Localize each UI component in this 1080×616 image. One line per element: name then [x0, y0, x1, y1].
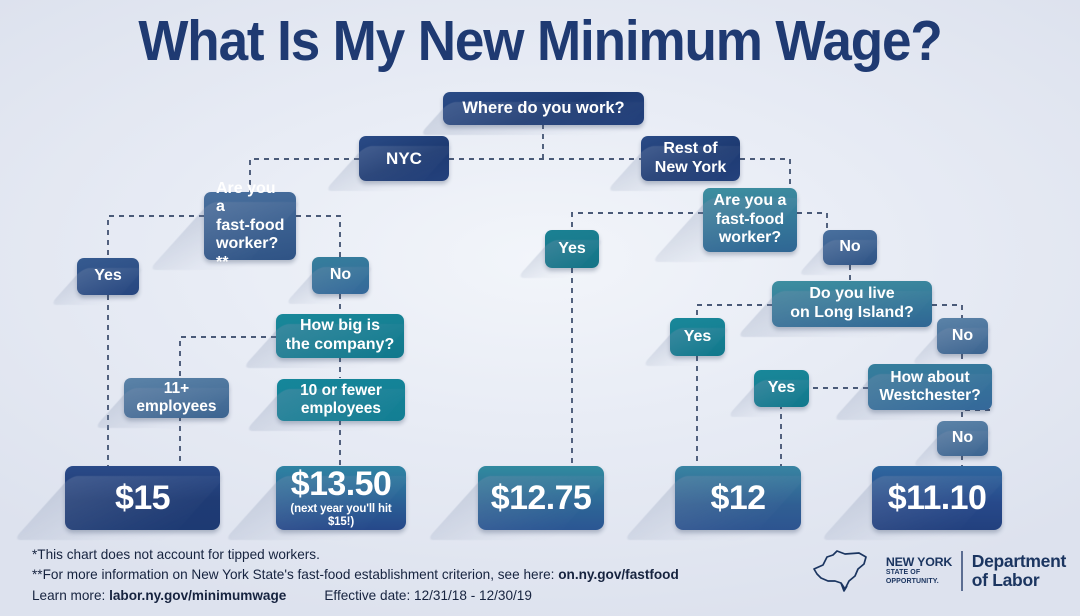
node-label: No [952, 327, 973, 346]
result-15[interactable]: $15 [65, 466, 220, 530]
node-label: Yes [558, 240, 586, 259]
flowchart: Where do you work? NYC Rest of New York … [0, 0, 1080, 616]
node-company-size-question[interactable]: How big is the company? [276, 314, 404, 358]
result-amount: $12.75 [491, 481, 591, 516]
minimumwage-link[interactable]: labor.ny.gov/minimumwage [109, 588, 286, 603]
footer-note-fastfood-criterion: **For more information on New York State… [32, 565, 679, 586]
logo-department: Department [972, 552, 1066, 571]
node-label: No [952, 429, 973, 448]
node-long-island-question[interactable]: Do you live on Long Island? [772, 281, 932, 327]
learn-more-text: Learn more: [32, 588, 109, 603]
node-westchester-no[interactable]: No [937, 421, 988, 456]
result-amount: $11.10 [888, 481, 987, 516]
node-label: Do you live on Long Island? [790, 285, 914, 322]
node-label: How about Westchester? [879, 369, 980, 405]
node-label: Rest of New York [655, 140, 726, 177]
logo-new-york: NEW YORK [886, 556, 952, 569]
node-rony-fast-food-yes[interactable]: Yes [545, 230, 599, 268]
result-subtext: (next year you'll hit $15!) [284, 503, 398, 530]
node-label: 11+ employees [136, 380, 216, 416]
node-label: How big is the company? [286, 317, 394, 354]
department-of-labor-wordmark: Department of Labor [972, 552, 1066, 590]
node-label: 10 or fewer employees [300, 382, 382, 418]
node-where-do-you-work[interactable]: Where do you work? [443, 92, 644, 125]
node-nyc[interactable]: NYC [359, 136, 449, 181]
result-13-50[interactable]: $13.50 (next year you'll hit $15!) [276, 466, 406, 530]
node-rony-fast-food-question[interactable]: Are you a fast-food worker? [703, 188, 797, 252]
new-york-state-outline-icon [811, 548, 877, 594]
node-label: No [330, 266, 351, 285]
result-11-10[interactable]: $11.10 [872, 466, 1002, 530]
ny-department-of-labor-logo: NEW YORK STATE OF OPPORTUNITY. Departmen… [811, 548, 1066, 594]
fastfood-link[interactable]: on.ny.gov/fastfood [558, 567, 679, 582]
node-long-island-yes[interactable]: Yes [670, 318, 725, 356]
effective-date: Effective date: 12/31/18 - 12/30/19 [324, 586, 532, 607]
result-12-75[interactable]: $12.75 [478, 466, 604, 530]
footer-note2-text: **For more information on New York State… [32, 567, 558, 582]
ny-state-wordmark: NEW YORK STATE OF OPPORTUNITY. [886, 556, 952, 586]
node-label: No [839, 238, 860, 257]
node-label: Where do you work? [462, 99, 624, 118]
node-11-plus-employees[interactable]: 11+ employees [124, 378, 229, 418]
node-label: Are you a fast-food worker?** [216, 180, 288, 273]
logo-opportunity: OPPORTUNITY. [886, 578, 952, 586]
node-label: Yes [768, 379, 796, 398]
node-westchester-question[interactable]: How about Westchester? [868, 364, 992, 410]
footer-links-row: Learn more: labor.ny.gov/minimumwage Eff… [32, 586, 679, 607]
node-label: NYC [386, 149, 422, 169]
node-rest-of-new-york[interactable]: Rest of New York [641, 136, 740, 181]
node-rony-fast-food-no[interactable]: No [823, 230, 877, 265]
node-nyc-fast-food-yes[interactable]: Yes [77, 258, 139, 295]
node-label: Yes [684, 328, 712, 347]
footer-notes: *This chart does not account for tipped … [32, 545, 679, 607]
result-amount: $12 [711, 481, 766, 516]
node-nyc-fast-food-question[interactable]: Are you a fast-food worker?** [204, 192, 296, 260]
result-amount: $15 [115, 481, 170, 516]
logo-divider [961, 551, 963, 591]
footer-note-tipped-workers: *This chart does not account for tipped … [32, 545, 679, 566]
node-nyc-fast-food-no[interactable]: No [312, 257, 369, 294]
result-amount: $13.50 [291, 467, 391, 502]
node-10-or-fewer-employees[interactable]: 10 or fewer employees [277, 379, 405, 421]
logo-of-labor: of Labor [972, 571, 1066, 590]
logo-state-of: STATE OF [886, 569, 952, 577]
node-long-island-no[interactable]: No [937, 318, 988, 354]
result-12[interactable]: $12 [675, 466, 801, 530]
node-label: Are you a fast-food worker? [714, 192, 787, 248]
node-westchester-yes[interactable]: Yes [754, 370, 809, 407]
node-label: Yes [94, 267, 122, 286]
learn-more: Learn more: labor.ny.gov/minimumwage [32, 586, 286, 607]
